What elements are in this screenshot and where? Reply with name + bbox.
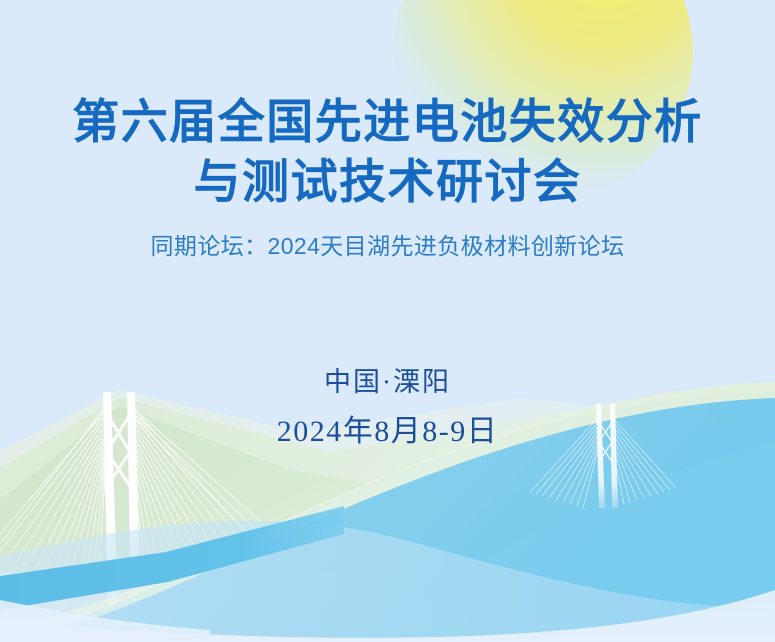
page-title-line-2: 与测试技术研讨会 — [0, 156, 775, 209]
conference-poster: 第六届全国先进电池失效分析 与测试技术研讨会 同期论坛：2024天目湖先进负极材… — [0, 0, 775, 642]
page-title-line-1: 第六届全国先进电池失效分析 — [0, 96, 775, 149]
poster-dates: 2024年8月8-9日 — [0, 406, 775, 450]
poster-subtitle: 同期论坛：2024天目湖先进负极材料创新论坛 — [0, 227, 775, 261]
poster-location: 中国·溧阳 — [0, 360, 775, 399]
